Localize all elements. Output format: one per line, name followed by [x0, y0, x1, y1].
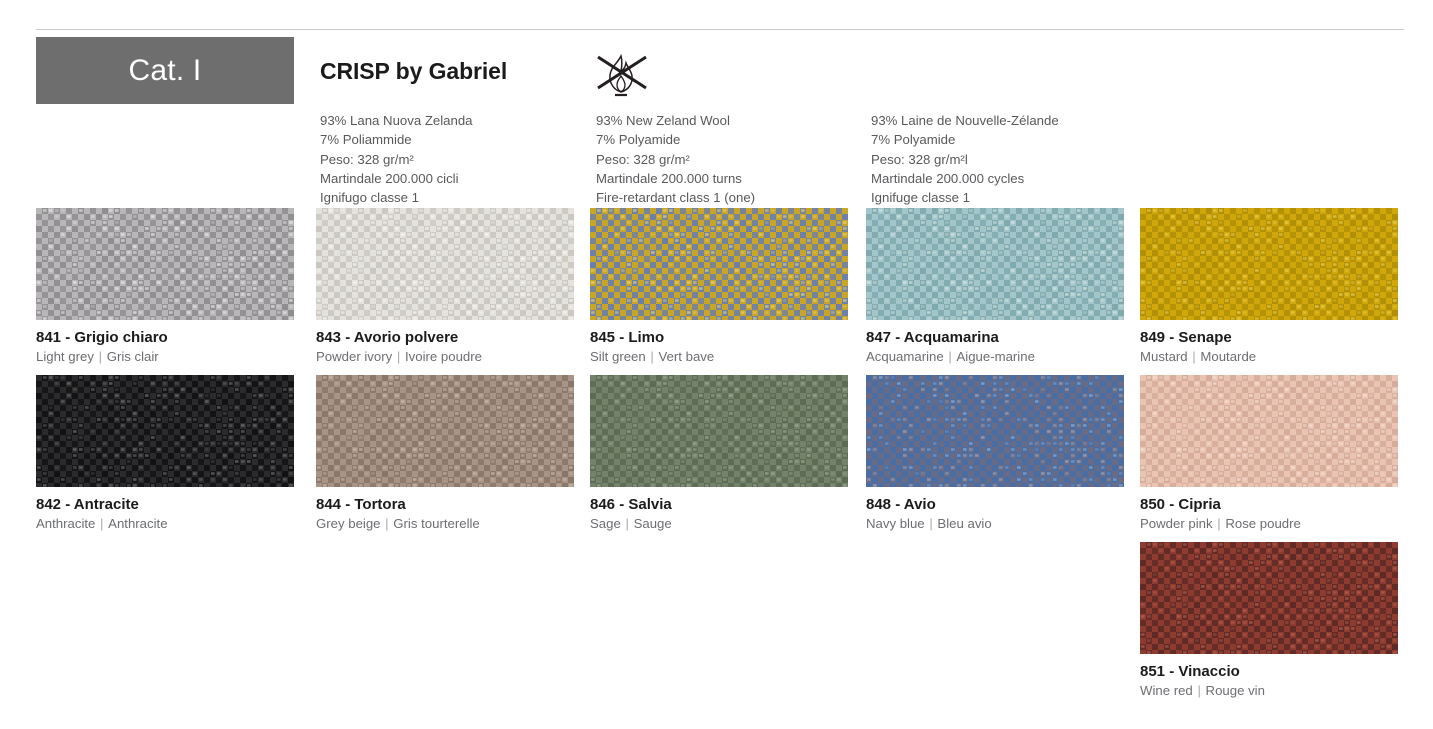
swatch-cell-849[interactable]: 849 - SenapeMustard | Moutarde [1140, 208, 1398, 365]
swatch-name-844: 844 - Tortora [316, 496, 574, 514]
spec-line: 7% Polyamide [871, 130, 1059, 149]
swatch-cell-850[interactable]: 850 - CipriaPowder pink | Rose poudre [1140, 375, 1398, 532]
fabric-swatch-843[interactable] [316, 208, 574, 320]
swatch-cell-848[interactable]: 848 - AvioNavy blue | Bleu avio [866, 375, 1124, 532]
swatch-name-849: 849 - Senape [1140, 329, 1398, 347]
fabric-swatch-850[interactable] [1140, 375, 1398, 487]
name-separator: | [94, 349, 107, 364]
spec-line: Peso: 328 gr/m² [320, 150, 473, 169]
fabric-swatch-848[interactable] [866, 375, 1124, 487]
swatch-translations-842: Anthracite | Anthracite [36, 515, 294, 532]
name-separator: | [621, 516, 634, 531]
swatch-name-fr: Aigue-marine [956, 349, 1034, 364]
collection-title: CRISP by Gabriel [320, 58, 507, 85]
spec-line: Martindale 200.000 cycles [871, 169, 1059, 188]
spec-line: Ignifugo classe 1 [320, 188, 473, 207]
swatch-name-848: 848 - Avio [866, 496, 1124, 514]
swatch-cell-847[interactable]: 847 - AcquamarinaAcquamarine | Aigue-mar… [866, 208, 1124, 365]
swatch-name-en: Anthracite [36, 516, 95, 531]
spec-line: 93% Laine de Nouvelle-Zélande [871, 111, 1059, 130]
spec-line: Martindale 200.000 cicli [320, 169, 473, 188]
fabric-swatch-847[interactable] [866, 208, 1124, 320]
swatch-name-fr: Ivoire poudre [405, 349, 482, 364]
swatch-cell-851[interactable]: 851 - VinaccioWine red | Rouge vin [1140, 542, 1398, 699]
swatch-translations-851: Wine red | Rouge vin [1140, 682, 1398, 699]
fabric-swatch-846[interactable] [590, 375, 848, 487]
swatch-name-fr: Anthracite [108, 516, 167, 531]
swatch-name-fr: Bleu avio [937, 516, 991, 531]
fabric-swatch-844[interactable] [316, 375, 574, 487]
swatch-name-en: Silt green [590, 349, 646, 364]
spec-line: 7% Polyamide [596, 130, 755, 149]
swatch-name-en: Light grey [36, 349, 94, 364]
swatch-translations-849: Mustard | Moutarde [1140, 348, 1398, 365]
name-separator: | [95, 516, 108, 531]
swatch-name-en: Sage [590, 516, 621, 531]
spec-block-italian: 93% Lana Nuova Zelanda 7% Poliammide Pes… [320, 111, 473, 207]
swatch-name-842: 842 - Antracite [36, 496, 294, 514]
fabric-swatch-841[interactable] [36, 208, 294, 320]
spec-line: Peso: 328 gr/m² [596, 150, 755, 169]
name-separator: | [1193, 683, 1206, 698]
fabric-swatch-851[interactable] [1140, 542, 1398, 654]
swatch-name-en: Wine red [1140, 683, 1193, 698]
swatch-name-fr: Gris tourterelle [393, 516, 479, 531]
swatch-translations-844: Grey beige | Gris tourterelle [316, 515, 574, 532]
swatch-cell-846[interactable]: 846 - SalviaSage | Sauge [590, 375, 848, 532]
swatch-cell-842[interactable]: 842 - AntraciteAnthracite | Anthracite [36, 375, 294, 532]
fabric-swatch-842[interactable] [36, 375, 294, 487]
swatch-name-843: 843 - Avorio polvere [316, 329, 574, 347]
spec-block-english: 93% New Zeland Wool 7% Polyamide Peso: 3… [596, 111, 755, 207]
name-separator: | [944, 349, 957, 364]
swatch-name-845: 845 - Limo [590, 329, 848, 347]
spec-block-french: 93% Laine de Nouvelle-Zélande 7% Polyami… [871, 111, 1059, 207]
fabric-swatch-849[interactable] [1140, 208, 1398, 320]
swatch-name-847: 847 - Acquamarina [866, 329, 1124, 347]
spec-line: Peso: 328 gr/m²l [871, 150, 1059, 169]
category-label: Cat. I [129, 56, 202, 86]
spec-line: 7% Poliammide [320, 130, 473, 149]
category-banner: Cat. I [36, 37, 294, 104]
swatch-translations-846: Sage | Sauge [590, 515, 848, 532]
spec-line: 93% New Zeland Wool [596, 111, 755, 130]
swatch-name-fr: Rose poudre [1225, 516, 1301, 531]
swatch-translations-848: Navy blue | Bleu avio [866, 515, 1124, 532]
swatch-name-851: 851 - Vinaccio [1140, 663, 1398, 681]
name-separator: | [925, 516, 938, 531]
swatch-translations-843: Powder ivory | Ivoire poudre [316, 348, 574, 365]
name-separator: | [1188, 349, 1201, 364]
swatch-translations-847: Acquamarine | Aigue-marine [866, 348, 1124, 365]
swatch-name-en: Mustard [1140, 349, 1188, 364]
spec-line: Martindale 200.000 turns [596, 169, 755, 188]
name-separator: | [646, 349, 659, 364]
name-separator: | [392, 349, 405, 364]
name-separator: | [1213, 516, 1226, 531]
swatch-name-fr: Vert bave [658, 349, 714, 364]
spec-line: Ignifuge classe 1 [871, 188, 1059, 207]
fire-retardant-icon [589, 46, 653, 108]
name-separator: | [381, 516, 394, 531]
swatch-name-846: 846 - Salvia [590, 496, 848, 514]
swatch-translations-850: Powder pink | Rose poudre [1140, 515, 1398, 532]
swatch-name-fr: Sauge [634, 516, 672, 531]
swatch-cell-844[interactable]: 844 - TortoraGrey beige | Gris tourterel… [316, 375, 574, 532]
swatch-cell-843[interactable]: 843 - Avorio polverePowder ivory | Ivoir… [316, 208, 574, 365]
swatch-name-en: Acquamarine [866, 349, 944, 364]
swatch-name-fr: Gris clair [107, 349, 159, 364]
swatch-name-en: Powder ivory [316, 349, 392, 364]
fabric-swatch-845[interactable] [590, 208, 848, 320]
swatch-name-841: 841 - Grigio chiaro [36, 329, 294, 347]
swatch-name-en: Navy blue [866, 516, 925, 531]
swatch-name-850: 850 - Cipria [1140, 496, 1398, 514]
spec-line: Fire-retardant class 1 (one) [596, 188, 755, 207]
swatch-translations-841: Light grey | Gris clair [36, 348, 294, 365]
swatch-name-en: Powder pink [1140, 516, 1213, 531]
swatch-cell-845[interactable]: 845 - LimoSilt green | Vert bave [590, 208, 848, 365]
swatch-translations-845: Silt green | Vert bave [590, 348, 848, 365]
swatch-name-fr: Moutarde [1200, 349, 1256, 364]
swatch-cell-841[interactable]: 841 - Grigio chiaroLight grey | Gris cla… [36, 208, 294, 365]
swatch-name-en: Grey beige [316, 516, 381, 531]
swatch-name-fr: Rouge vin [1206, 683, 1265, 698]
spec-line: 93% Lana Nuova Zelanda [320, 111, 473, 130]
top-divider-rule [36, 29, 1404, 30]
